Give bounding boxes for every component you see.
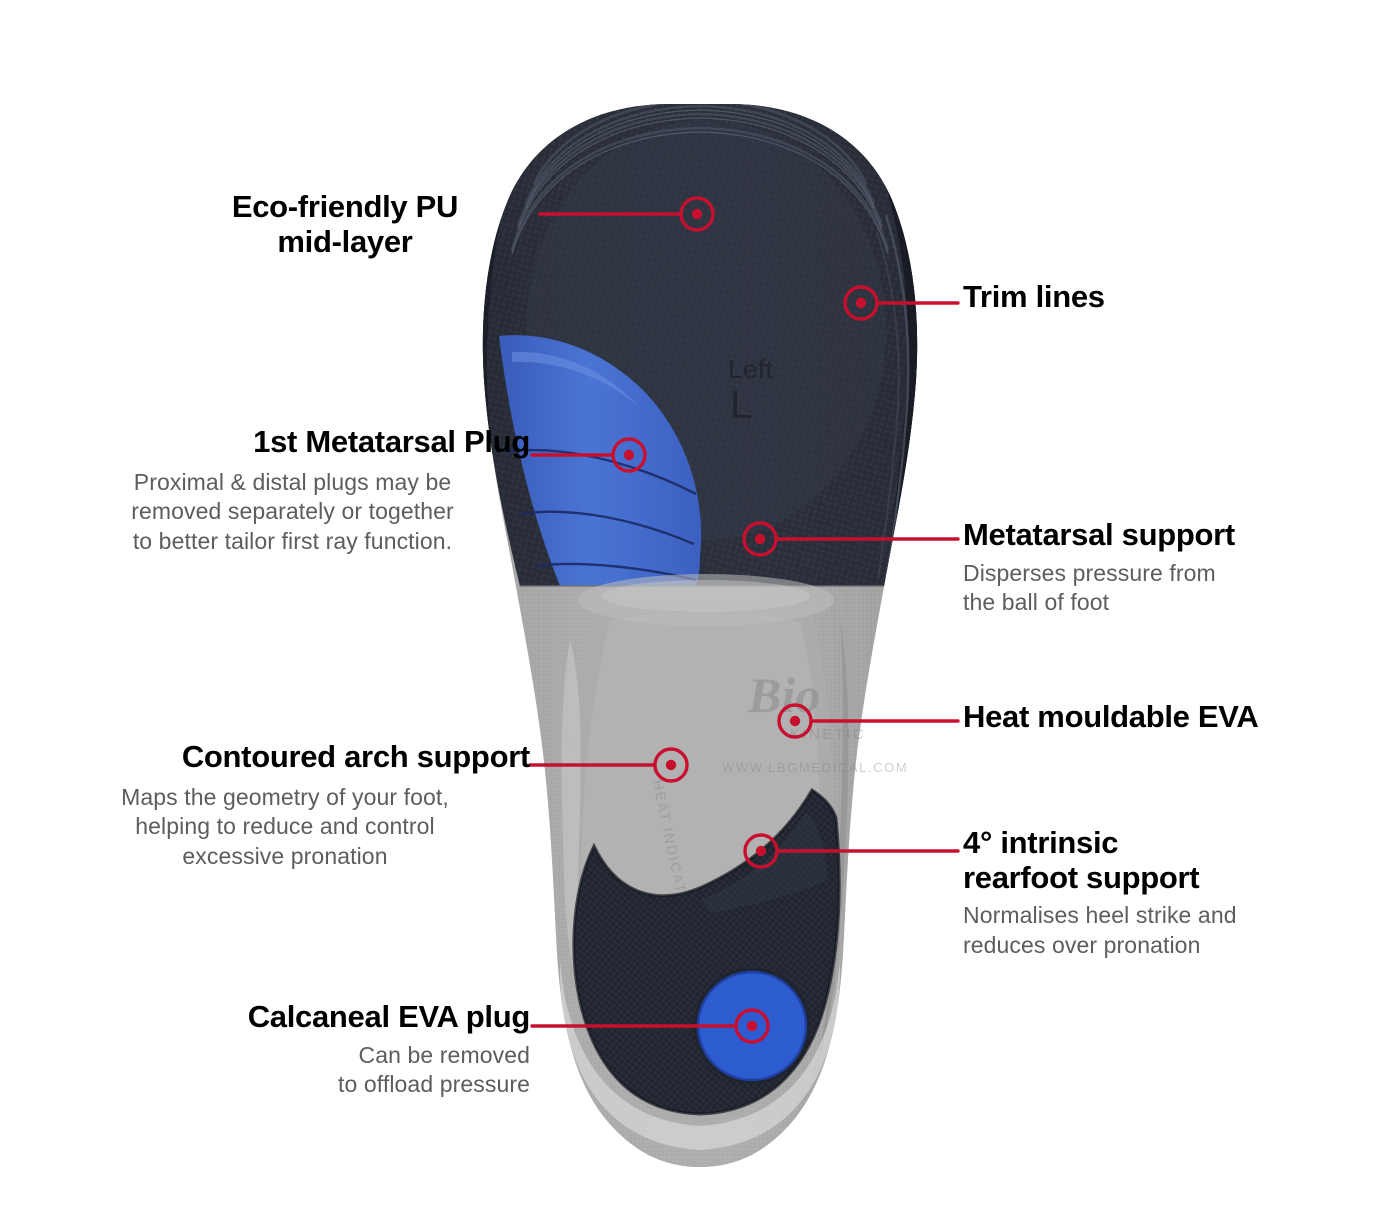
svg-text:Left: Left xyxy=(728,354,774,384)
svg-text:WWW.LBGMEDICAL.COM: WWW.LBGMEDICAL.COM xyxy=(722,760,908,775)
callout-description: Maps the geometry of your foot,helping t… xyxy=(40,783,530,871)
callout-desc-line-1: Proximal & distal plugs may be xyxy=(134,469,451,495)
callout-title: Heat mouldable EVA xyxy=(963,700,1383,735)
callout-trim-lines: Trim lines xyxy=(963,280,1363,315)
callout-metatarsal-support: Metatarsal support Disperses pressure fr… xyxy=(963,518,1363,618)
callout-first-metatarsal-plug: 1st Metatarsal Plug Proximal & distal pl… xyxy=(55,425,530,556)
insole-body: Left L Bio KINETIC WWW.LBGMEDICAL.COM — … xyxy=(470,90,940,1180)
callout-calcaneal-eva-plug: Calcaneal EVA plug Can be removedto offl… xyxy=(120,1000,530,1100)
callout-title: 1st Metatarsal Plug xyxy=(55,425,530,460)
callout-desc-line-1: Normalises heel strike and xyxy=(963,902,1237,928)
callout-description: Proximal & distal plugs may beremoved se… xyxy=(55,468,530,556)
callout-title-line-1: Eco-friendly PU xyxy=(232,189,458,224)
callout-title: Eco-friendly PUmid-layer xyxy=(150,190,540,259)
callout-desc-line-1: Can be removed xyxy=(359,1042,530,1068)
svg-text:L: L xyxy=(730,383,752,427)
callout-desc-line-3: excessive pronation xyxy=(182,843,387,869)
callout-eco-friendly-pu: Eco-friendly PUmid-layer xyxy=(150,190,540,259)
callout-title: Contoured arch support xyxy=(40,740,530,775)
callout-title: 4° intrinsicrearfoot support xyxy=(963,826,1363,895)
callout-desc-line-2: reduces over pronation xyxy=(963,932,1200,958)
callout-title-line-2: mid-layer xyxy=(277,224,412,259)
callout-description: Can be removedto offload pressure xyxy=(120,1041,530,1100)
insole-feature-diagram: Left L Bio KINETIC WWW.LBGMEDICAL.COM — … xyxy=(0,0,1400,1229)
callout-desc-line-2: removed separately or together xyxy=(131,498,454,524)
metatarsal-support-dome xyxy=(578,574,834,626)
callout-title: Metatarsal support xyxy=(963,518,1363,553)
callout-desc-line-2: the ball of foot xyxy=(963,589,1109,615)
callout-title: Calcaneal EVA plug xyxy=(120,1000,530,1035)
callout-heat-mouldable-eva: Heat mouldable EVA xyxy=(963,700,1383,735)
callout-desc-line-2: to offload pressure xyxy=(338,1071,530,1097)
callout-desc-line-1: Disperses pressure from xyxy=(963,560,1216,586)
callout-title: Trim lines xyxy=(963,280,1363,315)
callout-contoured-arch-support: Contoured arch support Maps the geometry… xyxy=(40,740,530,871)
callout-title-line-1: 4° intrinsic xyxy=(963,825,1118,860)
callout-description: Normalises heel strike andreduces over p… xyxy=(963,901,1363,960)
callout-desc-line-2: helping to reduce and control xyxy=(135,813,435,839)
callout-desc-line-3: to better tailor first ray function. xyxy=(133,528,452,554)
callout-desc-line-1: Maps the geometry of your foot, xyxy=(121,784,449,810)
callout-rearfoot-support: 4° intrinsicrearfoot support Normalises … xyxy=(963,826,1363,960)
callout-title-line-2: rearfoot support xyxy=(963,860,1199,895)
callout-description: Disperses pressure fromthe ball of foot xyxy=(963,559,1363,618)
